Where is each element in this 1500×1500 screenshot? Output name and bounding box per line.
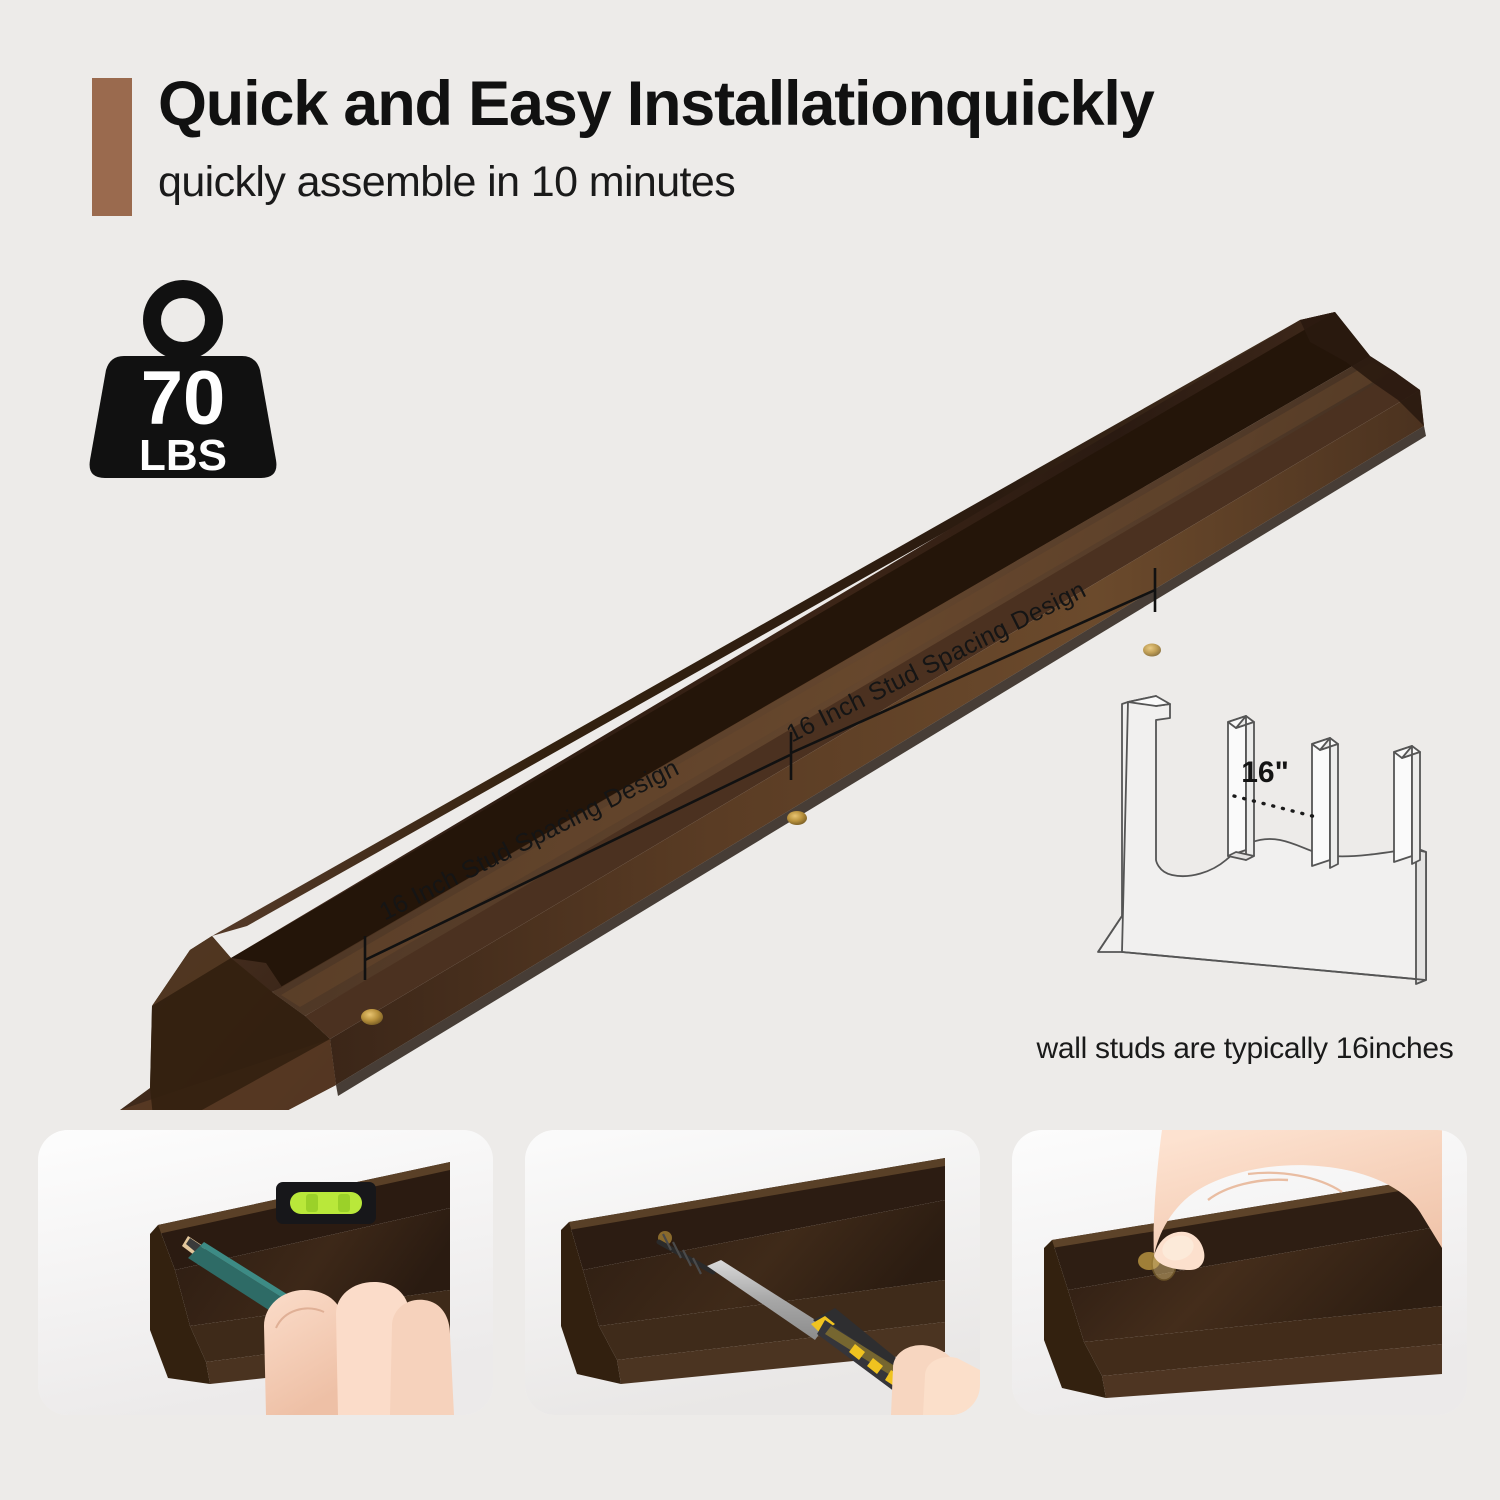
accent-bar — [92, 78, 132, 216]
page-subtitle: quickly assemble in 10 minutes — [158, 158, 735, 207]
stud-diagram-caption: wall studs are typically 16inches — [1005, 1032, 1485, 1066]
panel-mark-with-pencil — [38, 1130, 493, 1415]
hand-graphic — [264, 1282, 454, 1415]
dimension-line-left — [365, 755, 790, 960]
panel-place-screw-cap — [1012, 1130, 1467, 1415]
installation-steps — [0, 1130, 1500, 1420]
wall-stud-diagram: 16" — [1060, 660, 1480, 1000]
bubble-level-icon — [276, 1182, 376, 1224]
page-title: Quick and Easy Installationquickly — [158, 68, 1154, 140]
panel-drive-screw — [525, 1130, 980, 1415]
stud-measure-label: 16" — [1241, 756, 1289, 789]
header: Quick and Easy Installationquickly quick… — [0, 0, 1500, 230]
stud-diagram-svg: 16" — [1060, 660, 1480, 1000]
